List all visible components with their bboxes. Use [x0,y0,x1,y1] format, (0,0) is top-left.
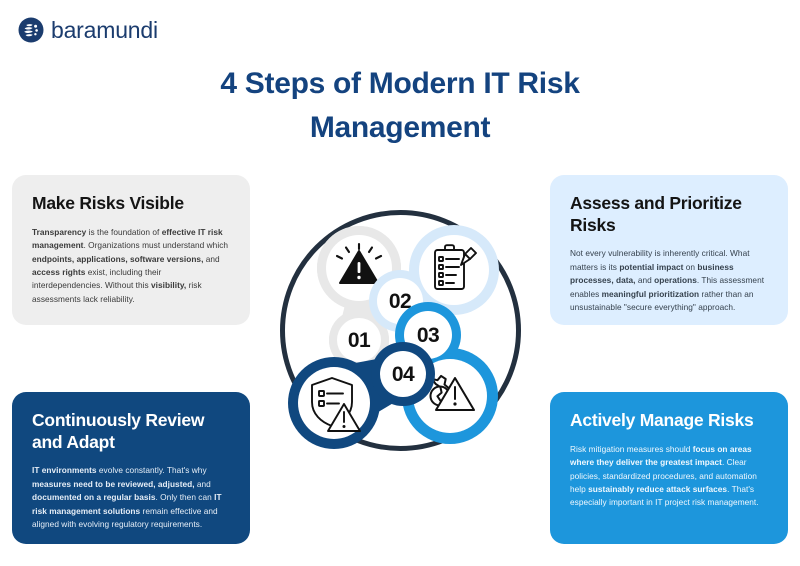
page-title: 4 Steps of Modern IT Risk Management [170,62,630,151]
card-heading: Actively Manage Risks [570,410,768,432]
card-assess-and-prioritize-risks: Assess and Prioritize Risks Not every vu… [550,175,788,325]
card-actively-manage-risks: Actively Manage Risks Risk mitigation me… [550,392,788,544]
card-heading: Continuously Review and Adapt [32,410,230,453]
brand-name: baramundi [51,19,158,42]
card-body: Risk mitigation measures should focus on… [570,443,768,510]
step-04-number: 04 [392,363,415,386]
card-make-risks-visible: Make Risks Visible Transparency is the f… [12,175,250,325]
step-01-number: 01 [348,329,371,352]
card-heading: Assess and Prioritize Risks [570,193,768,236]
four-step-cycle-diagram: 01 02 [258,188,543,473]
card-body: IT environments evolve constantly. That'… [32,464,230,531]
brand-logo: baramundi [18,17,158,43]
card-continuously-review-and-adapt: Continuously Review and Adapt IT environ… [12,392,250,544]
card-heading: Make Risks Visible [32,193,230,215]
step-03-number: 03 [417,324,439,347]
card-body: Not every vulnerability is inherently cr… [570,247,768,314]
baramundi-globe-icon [18,17,44,43]
card-body: Transparency is the foundation of effect… [32,226,230,307]
